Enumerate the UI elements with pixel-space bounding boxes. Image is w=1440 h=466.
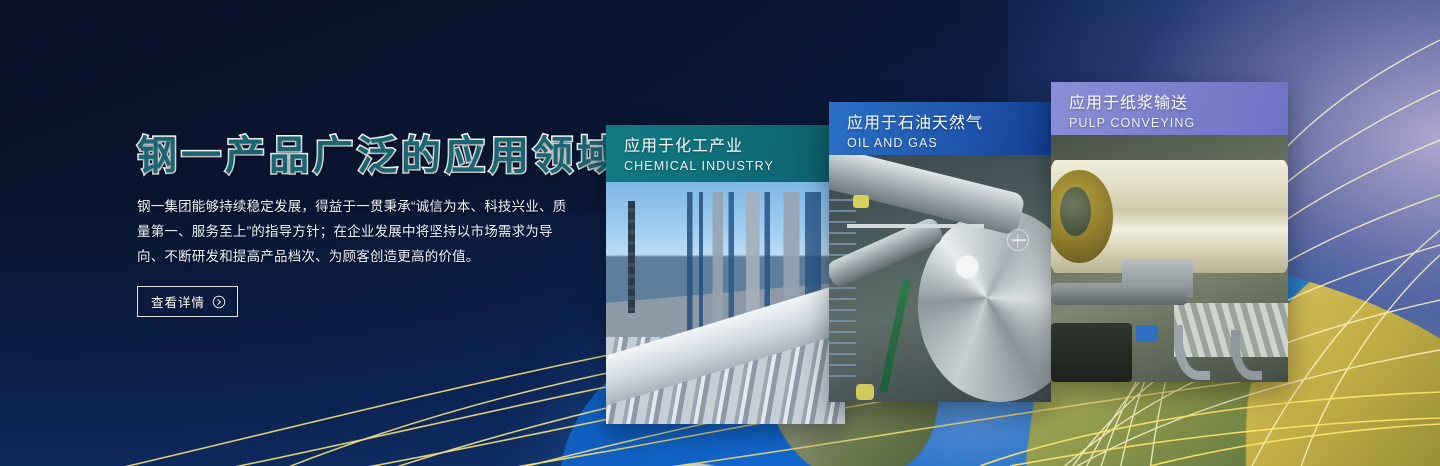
photo-detail: [1051, 323, 1132, 382]
card-photo-oilgas: [829, 155, 1051, 402]
card-title-en: CHEMICAL INDUSTRY: [624, 158, 845, 176]
photo-detail: [628, 201, 635, 312]
card-photo-pulp: [1051, 135, 1288, 382]
photo-detail: [879, 279, 910, 392]
application-card-pulp[interactable]: 应用于纸浆输送 PULP CONVEYING: [1051, 82, 1288, 382]
globe-landmass: [604, 450, 771, 466]
card-photo-chemical: [606, 182, 845, 424]
photo-detail: [853, 195, 869, 208]
photo-detail: [1136, 325, 1158, 342]
zoom-plus-icon: [1007, 229, 1029, 251]
view-details-button[interactable]: 查看详情: [137, 286, 238, 317]
application-card-chemical[interactable]: 应用于化工产业 CHEMICAL INDUSTRY: [606, 125, 845, 424]
photo-detail: [1051, 283, 1188, 305]
photo-detail: [1174, 325, 1210, 379]
application-card-oilgas[interactable]: 应用于石油天然气 OIL AND GAS: [829, 102, 1051, 402]
chevron-right-circle-icon: [212, 295, 226, 309]
page-title: 钢一产品广泛的应用领域: [137, 136, 597, 176]
photo-detail: [847, 224, 985, 228]
card-title-zh: 应用于化工产业: [624, 136, 845, 158]
card-title-en: PULP CONVEYING: [1069, 115, 1288, 133]
card-caption: 应用于纸浆输送 PULP CONVEYING: [1051, 82, 1288, 135]
card-caption: 应用于化工产业 CHEMICAL INDUSTRY: [606, 125, 845, 182]
hero-banner: 钢一产品广泛的应用领域 钢一集团能够持续稳定发展，得益于一贯秉承“诚信为本、科技…: [0, 0, 1440, 466]
photo-detail: [1231, 330, 1262, 379]
card-title-zh: 应用于纸浆输送: [1069, 93, 1288, 115]
hero-copy-block: 钢一产品广泛的应用领域 钢一集团能够持续稳定发展，得益于一贯秉承“诚信为本、科技…: [137, 136, 597, 317]
photo-detail: [856, 384, 874, 400]
card-caption: 应用于石油天然气 OIL AND GAS: [829, 102, 1051, 155]
card-title-zh: 应用于石油天然气: [847, 113, 1051, 135]
hero-description: 钢一集团能够持续稳定发展，得益于一贯秉承“诚信为本、科技兴业、质量第一、服务至上…: [137, 194, 577, 269]
card-title-en: OIL AND GAS: [847, 135, 1051, 153]
view-details-label: 查看详情: [151, 292, 205, 311]
